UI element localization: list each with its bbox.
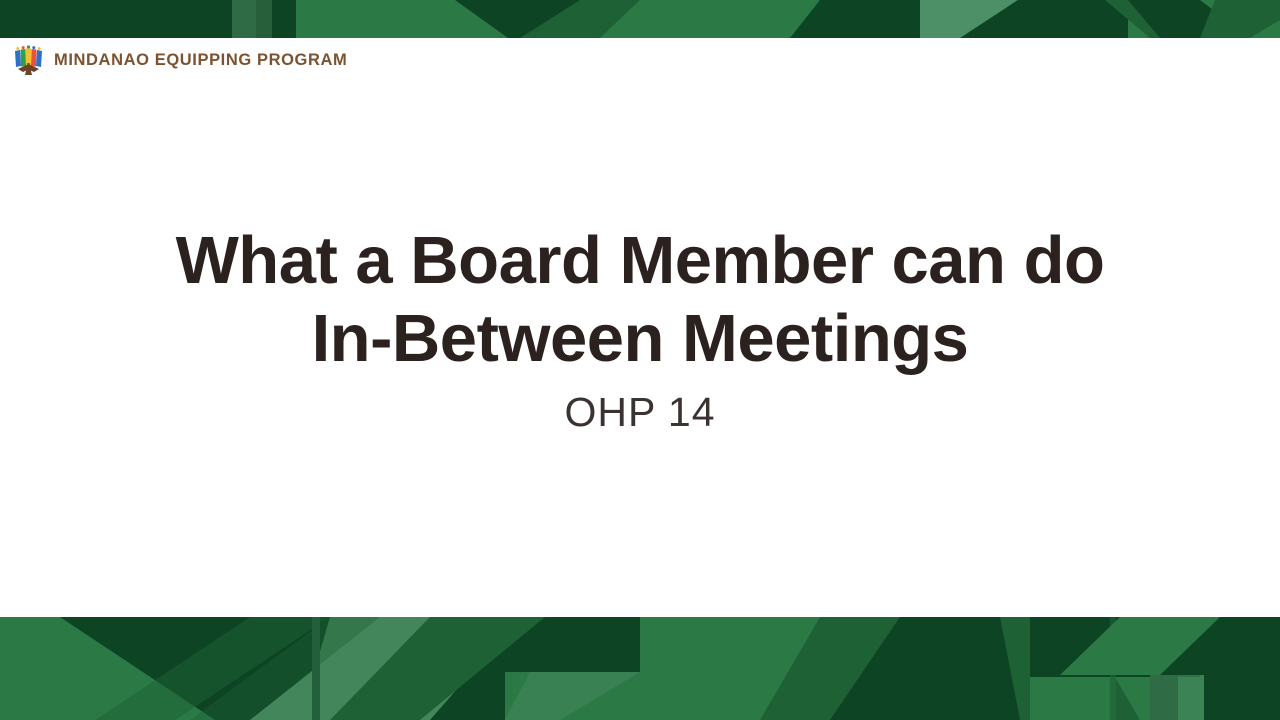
slide-canvas: MINDANAO EQUIPPING PROGRAM What a Board … (0, 0, 1280, 720)
top-geometric-banner (0, 0, 1280, 38)
slide-content: What a Board Member can do In-Between Me… (0, 38, 1280, 617)
top-banner-pattern (0, 0, 1280, 38)
page-title: What a Board Member can do In-Between Me… (160, 222, 1120, 379)
page-subtitle: OHP 14 (564, 392, 715, 433)
bottom-geometric-banner (0, 617, 1280, 720)
bottom-banner-pattern (0, 617, 1280, 720)
